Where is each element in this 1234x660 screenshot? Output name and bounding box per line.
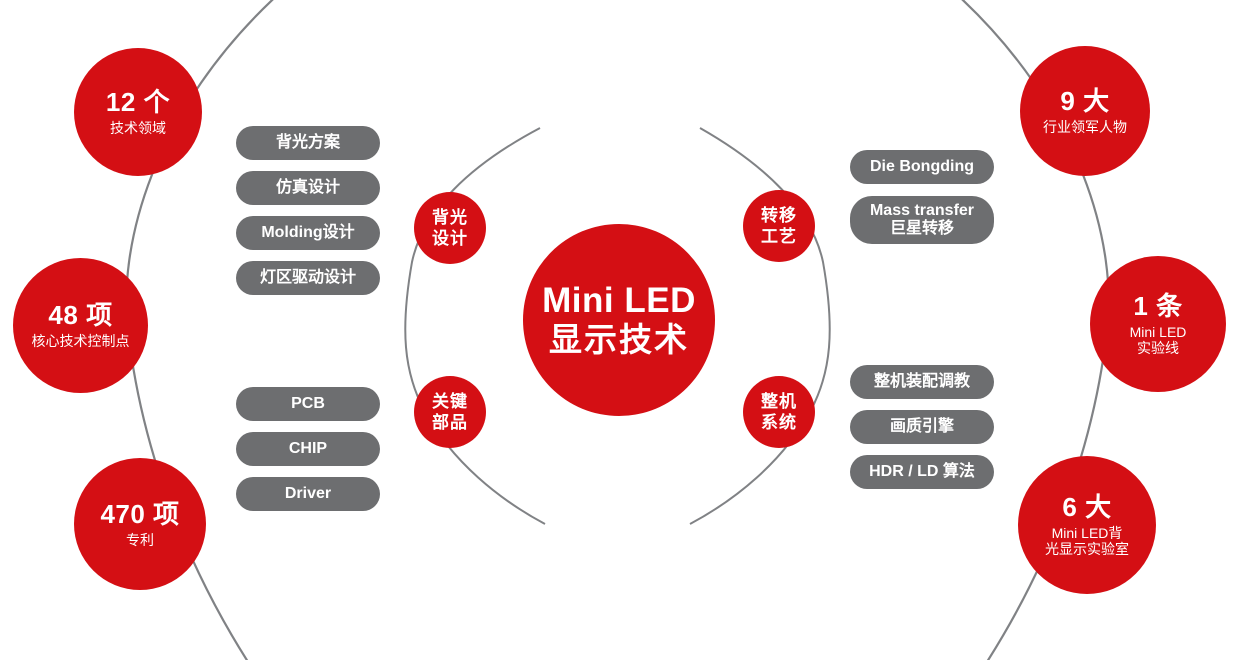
branch-bubble-whole-system[interactable]: 整机 系统 [743,376,815,448]
pill-molding-design[interactable]: Molding设计 [236,216,380,250]
pill-label: 整机装配调教 [874,373,970,391]
pill-die-bonding[interactable]: Die Bongding [850,150,994,184]
stat-value: 12 个 [106,88,170,117]
stat-label-line1: Mini LED [1130,325,1187,341]
branch-bubble-key-parts[interactable]: 关键 部品 [414,376,486,448]
branch-bubble-transfer-process[interactable]: 转移 工艺 [743,190,815,262]
pill-mass-transfer[interactable]: Mass transfer 巨星转移 [850,196,994,244]
stat-bubble-470-patents[interactable]: 470 项 专利 [74,458,206,590]
stat-label-line2: 光显示实验室 [1045,542,1129,558]
pill-label-line1: Mass transfer [870,202,974,220]
pill-hdr-ld-algorithm[interactable]: HDR / LD 算法 [850,455,994,489]
pill-label: 灯区驱动设计 [260,269,356,287]
stat-bubble-48-core-control-points[interactable]: 48 项 核心技术控制点 [13,258,148,393]
stat-bubble-6-mini-led-backlight-labs[interactable]: 6 大 Mini LED背 光显示实验室 [1018,456,1156,594]
pill-label: PCB [291,395,325,413]
stat-value: 6 大 [1062,493,1111,522]
stat-value: 470 项 [100,500,179,529]
pill-label: 背光方案 [276,134,340,152]
stat-value: 1 条 [1133,292,1182,321]
pill-pcb[interactable]: PCB [236,387,380,421]
branch-label-line1: 转移 [761,205,797,226]
branch-label-line2: 设计 [432,228,468,249]
stat-label: 技术领域 [110,121,166,137]
branch-label-line2: 工艺 [761,226,797,247]
pill-label: Molding设计 [261,224,354,242]
pill-label: Driver [285,485,331,503]
pill-backlight-solution[interactable]: 背光方案 [236,126,380,160]
pill-label: 画质引擎 [890,418,954,436]
pill-driver[interactable]: Driver [236,477,380,511]
stat-bubble-1-mini-led-pilot-line[interactable]: 1 条 Mini LED 实验线 [1090,256,1226,392]
stat-label: 核心技术控制点 [32,334,130,350]
stat-bubble-9-industry-leaders[interactable]: 9 大 行业领军人物 [1020,46,1150,176]
center-hub-subtitle: 显示技术 [549,322,689,359]
branch-label-line2: 系统 [761,412,797,433]
pill-picture-quality-engine[interactable]: 画质引擎 [850,410,994,444]
pill-label: 仿真设计 [276,179,340,197]
pill-label: CHIP [289,440,327,458]
stat-bubble-12-technology-fields[interactable]: 12 个 技术领域 [74,48,202,176]
pill-label: Die Bongding [870,158,974,176]
branch-label-line1: 整机 [761,391,797,412]
stat-label-line1: Mini LED背 [1052,526,1123,542]
stat-label-line2: 实验线 [1137,341,1179,357]
stat-value: 48 项 [48,301,112,330]
mindmap-diagram: Mini LED 显示技术 12 个 技术领域 48 项 核心技术控制点 470… [0,0,1234,660]
pill-label-line2: 巨星转移 [890,220,954,238]
pill-simulation-design[interactable]: 仿真设计 [236,171,380,205]
pill-label: HDR / LD 算法 [869,463,975,481]
stat-value: 9 大 [1060,87,1109,116]
stat-label: 行业领军人物 [1043,120,1127,136]
center-hub-title: Mini LED [542,281,696,320]
stat-label: 专利 [126,533,154,549]
branch-label-line1: 背光 [432,207,468,228]
pill-local-dimming-driver-design[interactable]: 灯区驱动设计 [236,261,380,295]
branch-label-line1: 关键 [432,391,468,412]
pill-chip[interactable]: CHIP [236,432,380,466]
pill-set-assembly-tuning[interactable]: 整机装配调教 [850,365,994,399]
branch-label-line2: 部品 [432,412,468,433]
branch-bubble-backlight-design[interactable]: 背光 设计 [414,192,486,264]
center-hub[interactable]: Mini LED 显示技术 [523,224,715,416]
